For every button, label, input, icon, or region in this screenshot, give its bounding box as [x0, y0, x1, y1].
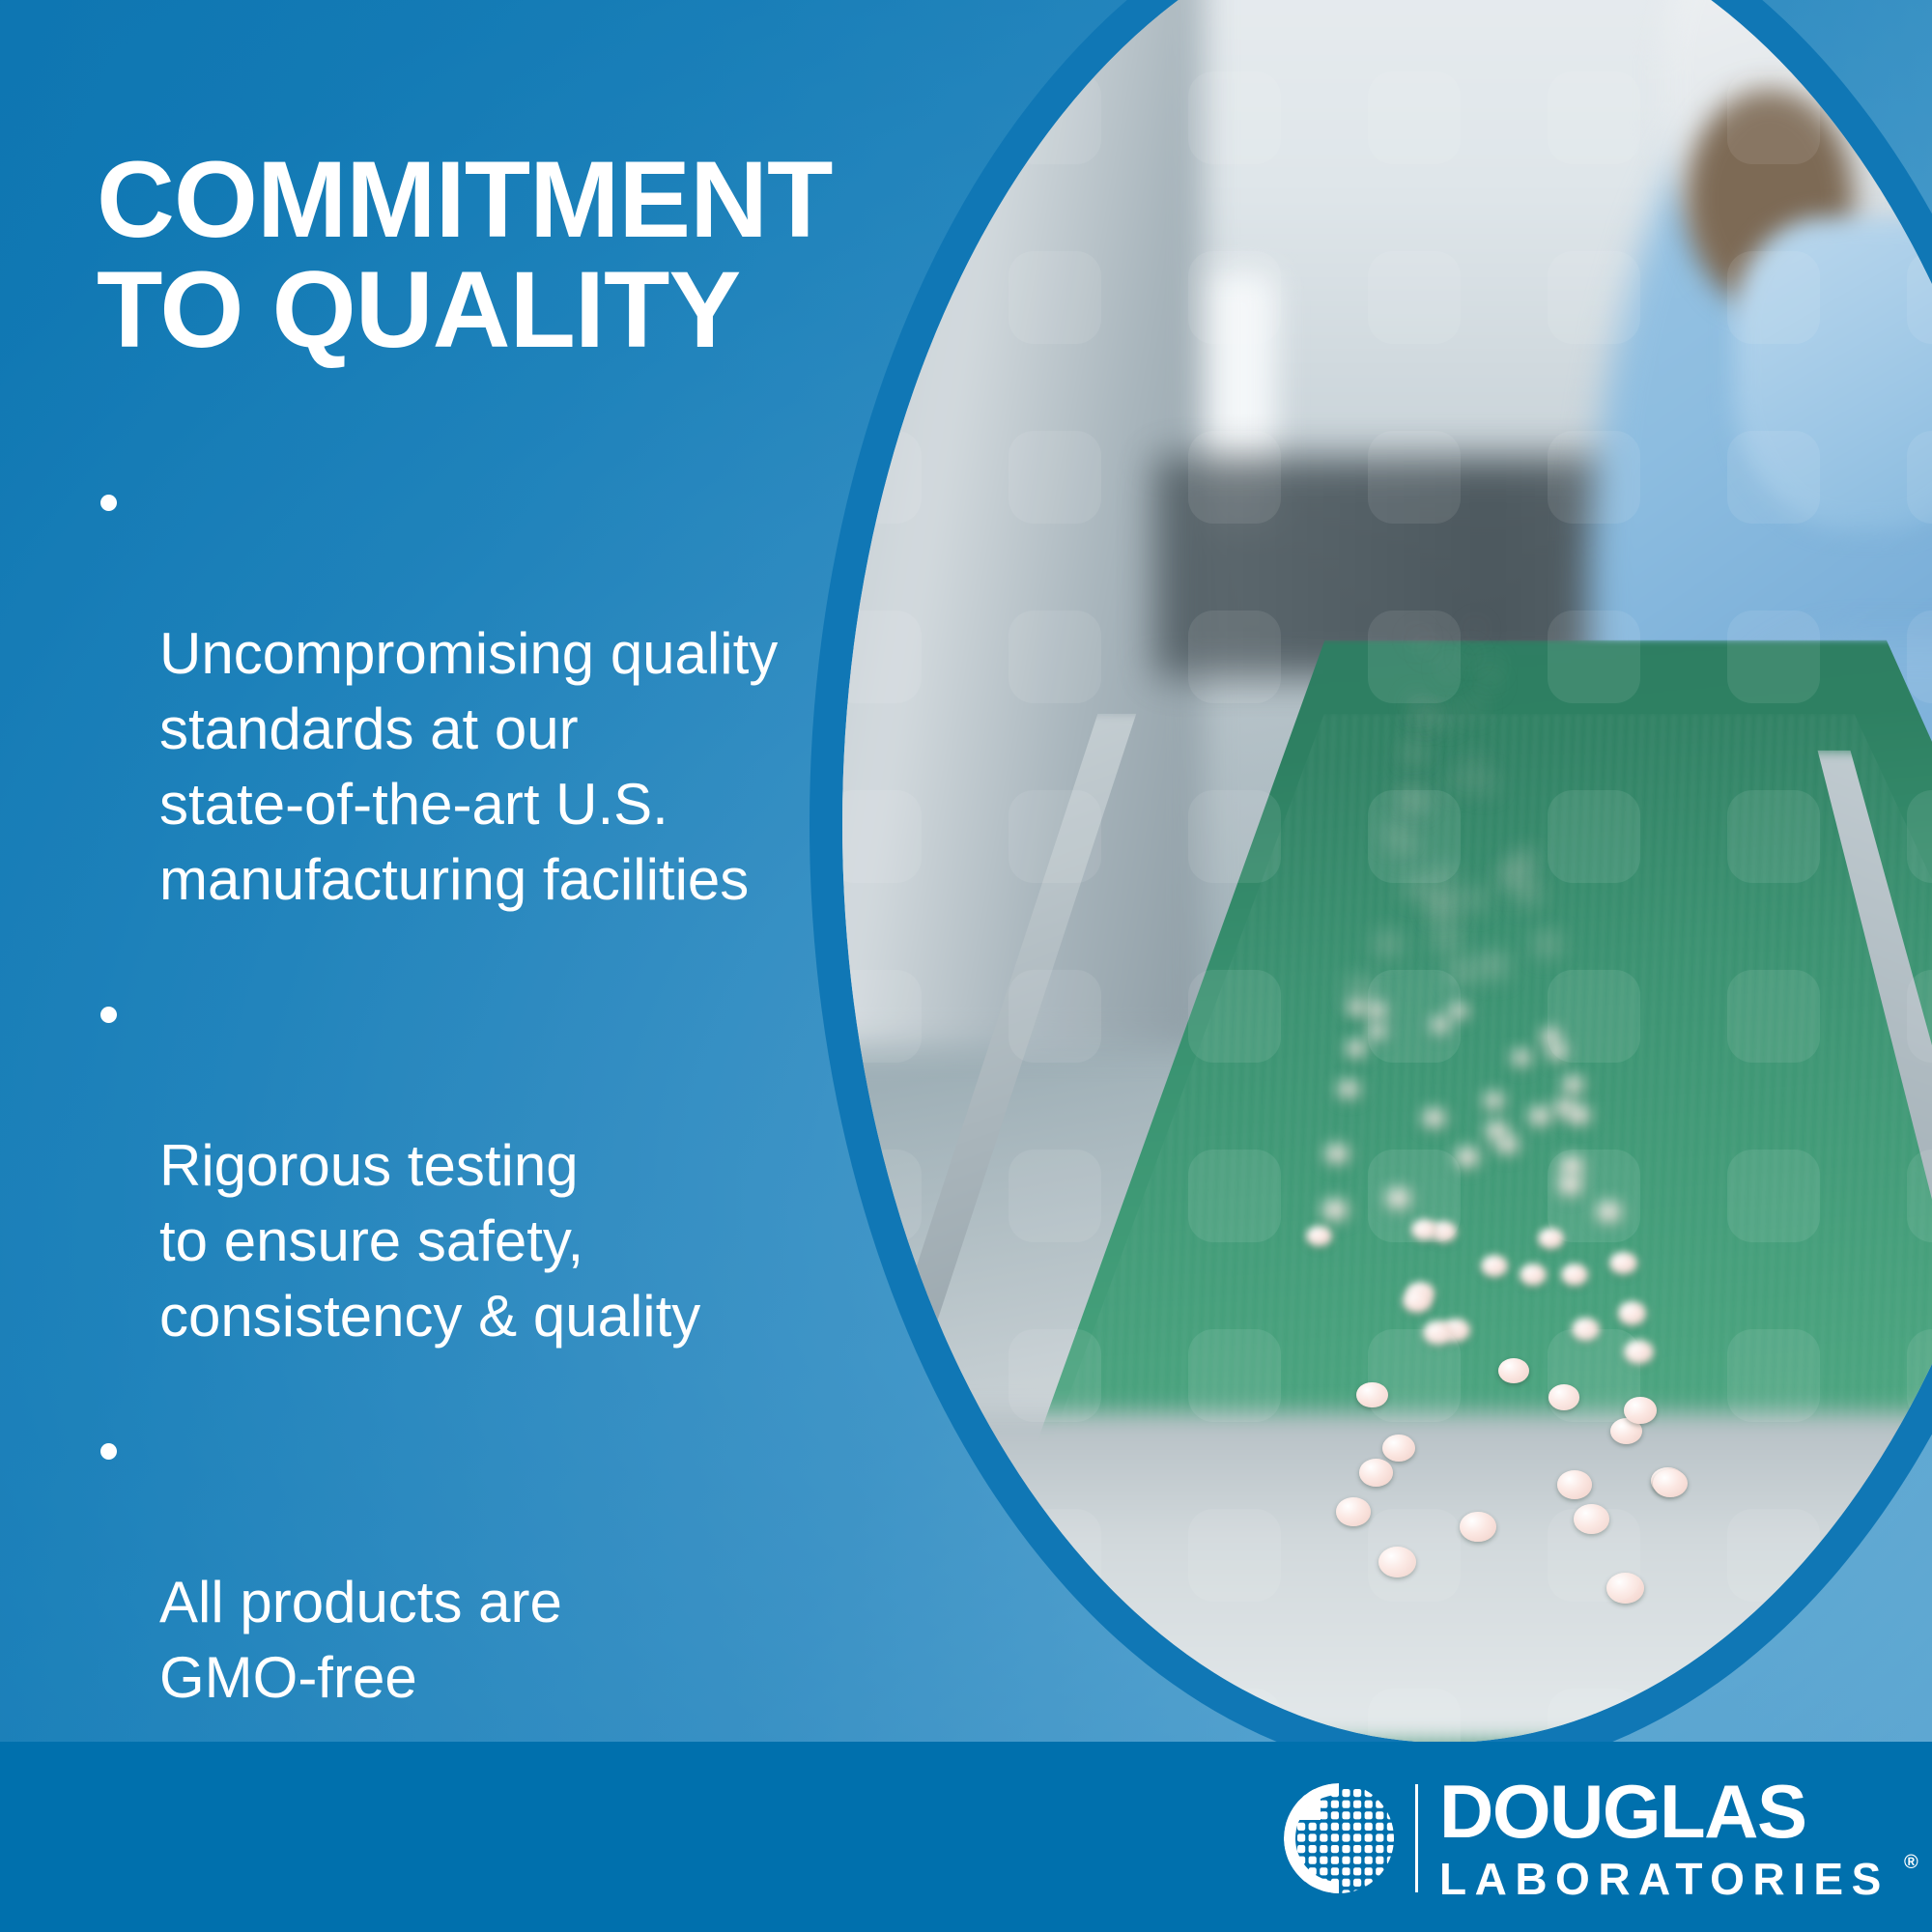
watermark-cell — [1907, 970, 1932, 1063]
logo-wordmark: DOUGLAS LABORATORIES ® — [1439, 1776, 1889, 1902]
benefits-list: Uncompromising quality standards at our … — [97, 466, 831, 1716]
watermark-cell — [1188, 611, 1281, 703]
logo-divider — [1415, 1784, 1418, 1892]
watermark-cell — [1727, 1329, 1820, 1422]
watermark-cell — [1188, 251, 1281, 344]
watermark-cell — [1907, 251, 1932, 344]
watermark-cell — [1188, 431, 1281, 524]
watermark-cell — [1009, 251, 1101, 344]
watermark-cell — [1727, 431, 1820, 524]
watermark-cell — [842, 1150, 922, 1242]
watermark-cell — [842, 1689, 922, 1743]
bullet-dot-icon — [100, 495, 117, 511]
watermark-cell — [1009, 970, 1101, 1063]
watermark-cell — [1727, 1689, 1820, 1743]
bullet-dot-icon — [100, 1007, 117, 1023]
watermark-cell — [1368, 970, 1461, 1063]
watermark-cell — [1188, 1509, 1281, 1602]
watermark-cell — [1009, 1150, 1101, 1242]
watermark-cell — [1188, 970, 1281, 1063]
watermark-cell — [1727, 251, 1820, 344]
marketing-graphic: COMMITMENT TO QUALITY Uncompromising qua… — [0, 0, 1932, 1932]
watermark-cell — [1727, 611, 1820, 703]
list-item: All products are GMO-free — [97, 1414, 831, 1716]
watermark-cell — [1727, 790, 1820, 883]
watermark-cell — [1188, 71, 1281, 164]
watermark-cell — [1907, 611, 1932, 703]
watermark-cell — [1907, 431, 1932, 524]
watermark-cell — [842, 611, 922, 703]
watermark-cell — [1009, 611, 1101, 703]
watermark-cell — [1548, 970, 1640, 1063]
watermark-cell — [1188, 1329, 1281, 1422]
watermark-cell — [1548, 611, 1640, 703]
watermark-cell — [1727, 1509, 1820, 1602]
list-item-text: All products are GMO-free — [159, 1570, 562, 1710]
photo-disc — [810, 0, 1932, 1776]
watermark-cell — [842, 970, 922, 1063]
registered-trademark-icon: ® — [1904, 1853, 1918, 1872]
watermark-cell — [1188, 1150, 1281, 1242]
watermark-cell — [1907, 1509, 1932, 1602]
list-item-text: Uncompromising quality standards at our … — [159, 621, 778, 912]
douglas-dot-grid-icon — [1282, 1781, 1396, 1895]
watermark-cell — [1009, 790, 1101, 883]
bullet-dot-icon — [100, 1443, 117, 1460]
watermark-cell — [842, 790, 922, 883]
watermark-cell — [1368, 611, 1461, 703]
watermark-cell — [1727, 970, 1820, 1063]
list-item: Uncompromising quality standards at our … — [97, 466, 831, 918]
watermark-cell — [842, 71, 922, 164]
watermark-cell — [1009, 431, 1101, 524]
logo-name-secondary-text: LABORATORIES — [1439, 1854, 1889, 1904]
watermark-cell — [1009, 71, 1101, 164]
watermark-cell — [1548, 1509, 1640, 1602]
watermark-cell — [842, 251, 922, 344]
watermark-cell — [1188, 790, 1281, 883]
watermark-cell — [1907, 1150, 1932, 1242]
watermark-cell — [1907, 71, 1932, 164]
watermark-grid-overlay — [842, 0, 1932, 1743]
watermark-cell — [1548, 790, 1640, 883]
watermark-cell — [1188, 1689, 1281, 1743]
watermark-cell — [842, 431, 922, 524]
watermark-cell — [1548, 71, 1640, 164]
watermark-cell — [1368, 251, 1461, 344]
watermark-cell — [1548, 1329, 1640, 1422]
watermark-cell — [1368, 1329, 1461, 1422]
watermark-cell — [1548, 251, 1640, 344]
watermark-cell — [1368, 790, 1461, 883]
watermark-cell — [1009, 1329, 1101, 1422]
watermark-cell — [1907, 790, 1932, 883]
watermark-cell — [1907, 1329, 1932, 1422]
watermark-cell — [1368, 1689, 1461, 1743]
manufacturing-photo — [842, 0, 1932, 1743]
content-column: COMMITMENT TO QUALITY Uncompromising qua… — [97, 145, 831, 1776]
logo-name-secondary: LABORATORIES ® — [1439, 1857, 1889, 1901]
watermark-cell — [1368, 1509, 1461, 1602]
photo-content — [842, 0, 1932, 1743]
watermark-cell — [1907, 1689, 1932, 1743]
watermark-cell — [1548, 1689, 1640, 1743]
watermark-cell — [1368, 1150, 1461, 1242]
list-item-text: Rigorous testing to ensure safety, consi… — [159, 1133, 700, 1349]
list-item: Rigorous testing to ensure safety, consi… — [97, 978, 831, 1354]
watermark-cell — [1009, 1689, 1101, 1743]
watermark-cell — [1368, 71, 1461, 164]
watermark-cell — [842, 1509, 922, 1602]
watermark-cell — [1548, 431, 1640, 524]
watermark-cell — [1009, 1509, 1101, 1602]
brand-logo: DOUGLAS LABORATORIES ® — [1282, 1776, 1889, 1901]
logo-name-primary: DOUGLAS — [1439, 1776, 1889, 1848]
watermark-cell — [1368, 431, 1461, 524]
page-title: COMMITMENT TO QUALITY — [97, 145, 831, 365]
watermark-cell — [842, 1329, 922, 1422]
watermark-cell — [1727, 1150, 1820, 1242]
watermark-cell — [1727, 71, 1820, 164]
watermark-cell — [1548, 1150, 1640, 1242]
